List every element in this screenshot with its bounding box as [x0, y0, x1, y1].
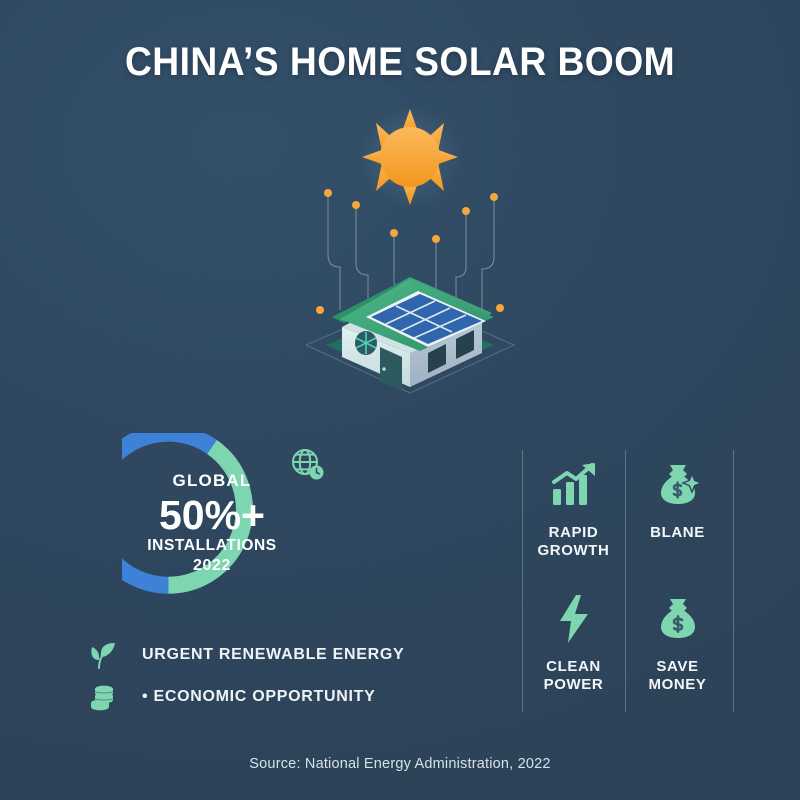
money-bag-icon [654, 590, 702, 648]
feature-rapid-growth[interactable]: RAPID GROWTH [522, 456, 625, 561]
feature-label: SAVE MONEY [626, 658, 729, 695]
donut-label-bottom: INSTALLATIONS [147, 538, 277, 555]
divider-right [733, 450, 734, 712]
feature-label: RAPID GROWTH [538, 524, 610, 561]
solar-house-icon [270, 95, 550, 395]
list-item[interactable]: URGENT RENEWABLE ENERGY [86, 634, 416, 676]
feature-grid: RAPID GROWTH BLANE [522, 450, 734, 712]
list-item[interactable]: • ECONOMIC OPPORTUNITY [86, 676, 416, 718]
feature-label: CLEAN POWER [544, 658, 604, 695]
donut-chart: GLOBAL 50%+ INSTALLATIONS 2022 [122, 433, 302, 613]
page-title: CHINA’S HOME SOLAR BOOM [28, 40, 772, 85]
feature-blane[interactable]: BLANE [626, 456, 729, 542]
list-item-label: • ECONOMIC OPPORTUNITY [142, 688, 375, 706]
hero-illustration [270, 95, 550, 395]
donut-label-top: GLOBAL [173, 472, 252, 490]
globe-clock-icon [288, 445, 326, 483]
feature-clean-power[interactable]: CLEAN POWER [522, 590, 625, 695]
benefits-list: URGENT RENEWABLE ENERGY [86, 634, 416, 718]
source-note: Source: National Energy Administration, … [0, 756, 800, 772]
donut-year: 2022 [193, 557, 231, 574]
feature-save-money[interactable]: SAVE MONEY [626, 590, 729, 695]
growth-chart-icon [549, 456, 599, 514]
leaf-icon [86, 638, 120, 672]
door-knob [382, 367, 386, 371]
coins-icon [86, 680, 120, 714]
donut-value: 50%+ [159, 493, 265, 537]
feature-label: BLANE [650, 524, 705, 542]
list-item-label: URGENT RENEWABLE ENERGY [142, 646, 404, 664]
lightning-bolt-icon [554, 590, 594, 648]
infographic-poster: CHINA’S HOME SOLAR BOOM [0, 0, 800, 800]
money-bag-sparkle-icon [654, 456, 702, 514]
donut-center-text: GLOBAL 50%+ INSTALLATIONS 2022 [122, 433, 302, 613]
sun-disc [380, 127, 440, 187]
